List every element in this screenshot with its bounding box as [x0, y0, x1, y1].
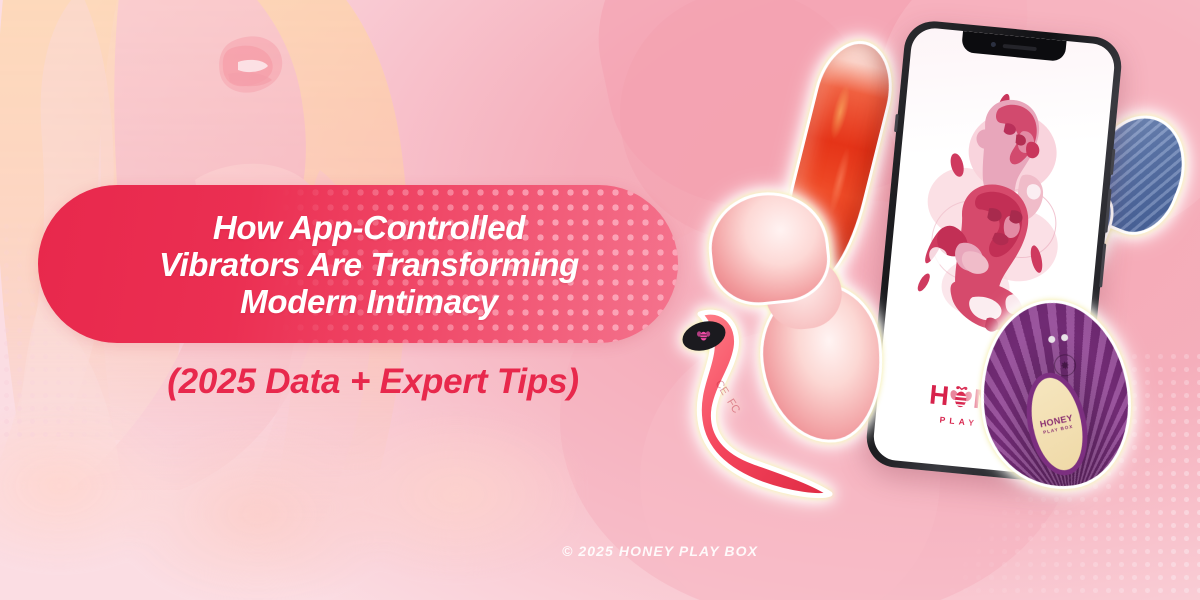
svg-text:FC: FC [724, 397, 742, 416]
phone-mute-switch [894, 114, 899, 132]
product-coral-curved-vibrator: CE FC [670, 300, 850, 500]
phone-notch [961, 31, 1067, 62]
honeybee-icon [948, 384, 974, 412]
coral-toy-shape: CE FC [670, 300, 850, 500]
front-camera-icon [991, 42, 996, 47]
page-title: How App-Controlled Vibrators Are Transfo… [38, 185, 678, 320]
product-purple-shell-vibrator: ✸ HONEY PLAY BOX [968, 290, 1143, 499]
earpiece-speaker-icon [1003, 43, 1037, 50]
title-banner-pill: How App-Controlled Vibrators Are Transfo… [38, 185, 678, 343]
page-subtitle: (2025 Data + Expert Tips) [38, 362, 678, 402]
promo-banner: How App-Controlled Vibrators Are Transfo… [0, 0, 1200, 600]
product-cluster: H [660, 0, 1200, 600]
